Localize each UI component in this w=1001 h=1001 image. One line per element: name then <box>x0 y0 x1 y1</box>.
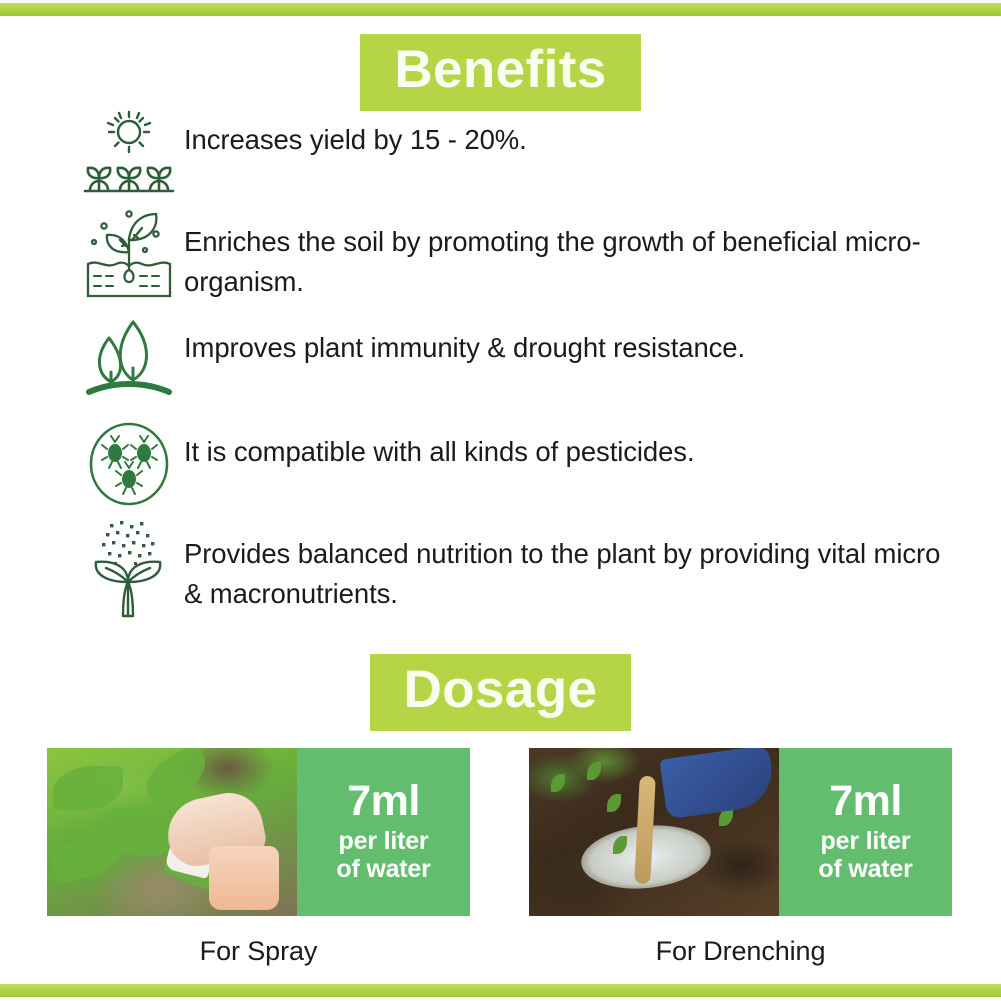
product-info-page: Benefits <box>0 0 1001 1001</box>
dosage-amount: 7ml <box>829 780 902 823</box>
benefit-text: Enriches the soil by promoting the growt… <box>184 206 954 302</box>
sun-seedlings-icon <box>74 104 184 200</box>
dosage-heading-wrap: Dosage <box>0 654 1001 731</box>
pouring-water-on-soil-photo <box>529 748 779 916</box>
dosage-caption: For Spray <box>47 936 470 967</box>
benefit-text: It is compatible with all kinds of pesti… <box>184 416 954 472</box>
benefit-text: Increases yield by 15 - 20%. <box>184 104 954 160</box>
benefits-heading-wrap: Benefits <box>0 34 1001 111</box>
benefit-item: It is compatible with all kinds of pesti… <box>74 416 954 512</box>
benefit-item: Improves plant immunity & drought resist… <box>74 312 954 408</box>
dosage-sub-line-1: per liter <box>818 827 912 855</box>
nutrient-spray-plant-icon <box>74 518 184 622</box>
benefit-item: Enriches the soil by promoting the growt… <box>74 206 954 302</box>
benefits-list: Increases yield by 15 - 20%. <box>74 104 954 628</box>
benefit-item: Provides balanced nutrition to the plant… <box>74 518 954 622</box>
dosage-caption: For Drenching <box>529 936 952 967</box>
dosage-amount-panel: 7ml per liter of water <box>297 748 470 916</box>
sprout-in-soil-icon <box>74 206 184 302</box>
dosage-card-drenching: 7ml per liter of water For Drenching <box>529 748 952 967</box>
dosage-amount: 7ml <box>347 780 420 823</box>
insects-in-circle-icon <box>74 416 184 512</box>
benefit-text: Improves plant immunity & drought resist… <box>184 312 954 368</box>
dosage-heading: Dosage <box>370 654 632 731</box>
dosage-cards: 7ml per liter of water For Spray <box>47 748 952 967</box>
two-leaves-icon <box>74 312 184 408</box>
benefit-text: Provides balanced nutrition to the plant… <box>184 518 954 614</box>
dosage-sub-line-1: per liter <box>336 827 430 855</box>
dosage-sub-line-2: of water <box>818 855 912 883</box>
top-accent-stripe <box>0 3 1001 16</box>
dosage-amount-panel: 7ml per liter of water <box>779 748 952 916</box>
benefits-heading: Benefits <box>360 34 640 111</box>
hand-spraying-plants-photo <box>47 748 297 916</box>
dosage-sub-line-2: of water <box>336 855 430 883</box>
dosage-card-spray: 7ml per liter of water For Spray <box>47 748 470 967</box>
bottom-accent-stripe <box>0 984 1001 997</box>
benefit-item: Increases yield by 15 - 20%. <box>74 104 954 200</box>
